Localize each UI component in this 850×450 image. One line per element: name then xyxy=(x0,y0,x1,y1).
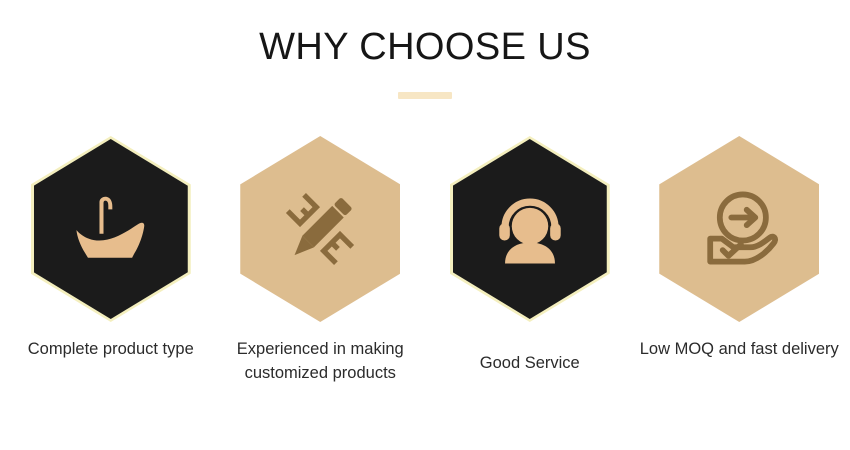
feature-item: Good Service xyxy=(425,136,635,376)
page-title: WHY CHOOSE US xyxy=(0,26,850,70)
feature-item: Complete product type xyxy=(6,136,216,362)
feature-caption: Good Service xyxy=(480,352,580,376)
hex-tile-pencil-ruler xyxy=(240,136,400,322)
title-divider xyxy=(398,92,452,99)
hex-tile-support-agent xyxy=(450,136,610,322)
feature-caption: Low MOQ and fast delivery xyxy=(640,338,839,362)
bathtub-icon xyxy=(63,181,159,277)
support-agent-headset-icon xyxy=(482,181,578,277)
hex-tile-bathtub xyxy=(31,136,191,322)
heading-block: WHY CHOOSE US xyxy=(0,0,850,99)
feature-item: Experienced in making customized product… xyxy=(216,136,426,386)
feature-item: Low MOQ and fast delivery xyxy=(635,136,845,362)
why-choose-us-banner: WHY CHOOSE US Complete product type xyxy=(0,0,850,450)
hex-tile-fast-delivery xyxy=(659,136,819,322)
hand-delivery-arrow-icon xyxy=(691,181,787,277)
pencil-ruler-icon xyxy=(272,181,368,277)
feature-caption: Experienced in making customized product… xyxy=(218,338,423,386)
feature-caption: Complete product type xyxy=(28,338,194,362)
feature-list: Complete product type xyxy=(0,136,850,386)
